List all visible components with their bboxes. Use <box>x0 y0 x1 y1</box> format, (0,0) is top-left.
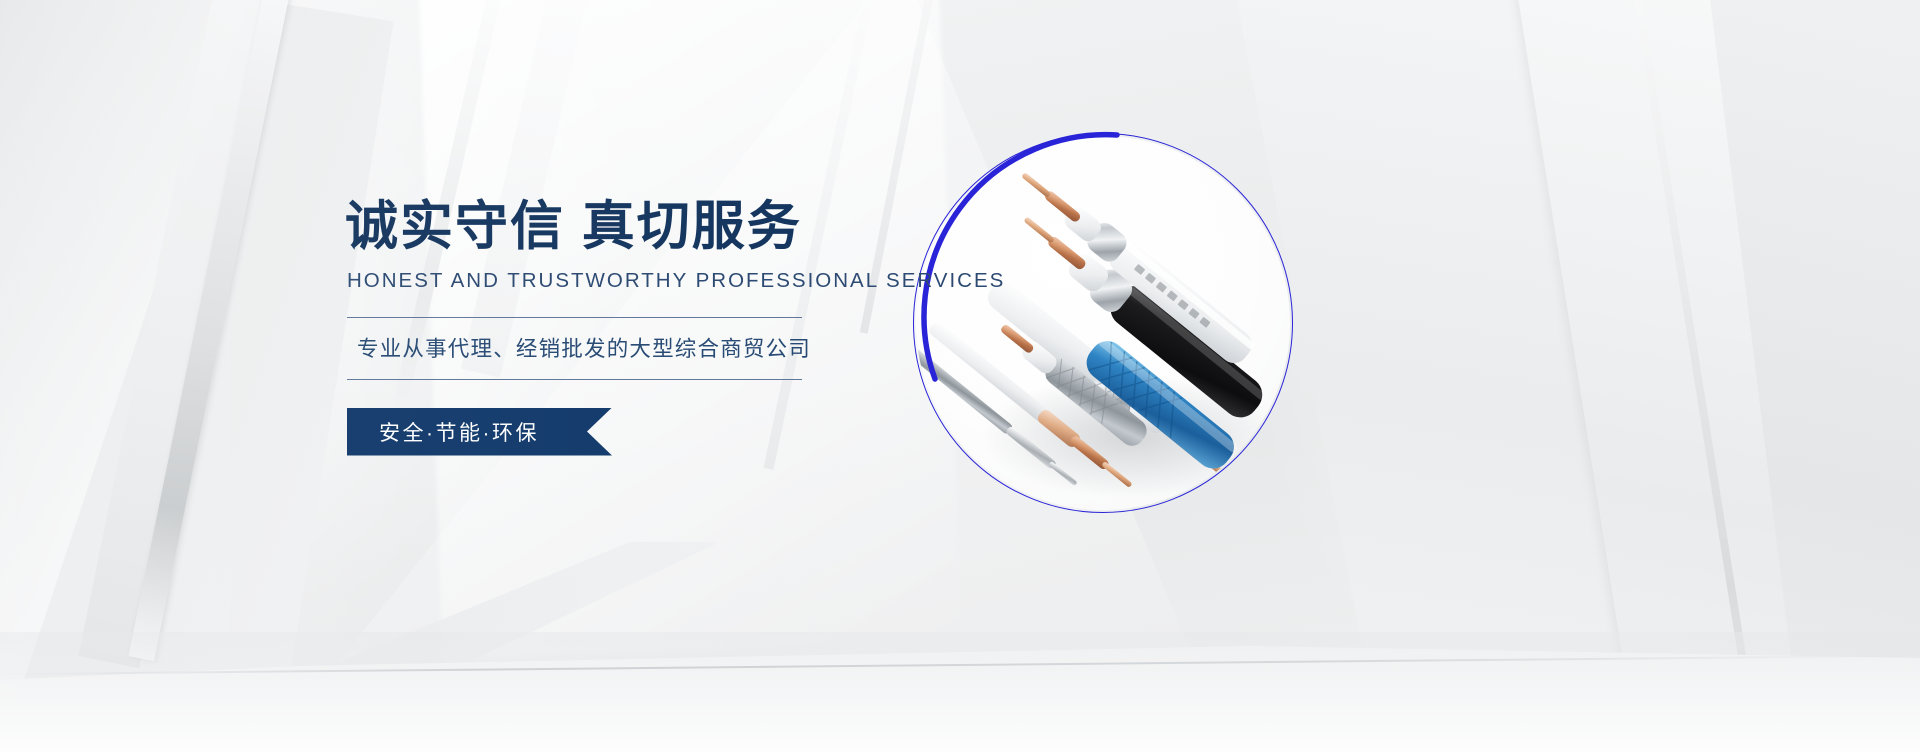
divider-bottom <box>347 379 802 380</box>
status-badge: 安全·节能·环保 <box>347 408 612 456</box>
blue-arc-accent-icon <box>895 117 1295 517</box>
background-floor-shade <box>0 632 1920 752</box>
subtitle-chinese: 专业从事代理、经销批发的大型综合商贸公司 <box>357 318 865 379</box>
status-badge-label: 安全·节能·环保 <box>379 417 539 447</box>
hero-text-block: 诚实守信 真切服务 HONEST AND TRUSTWORTHY PROFESS… <box>345 196 865 456</box>
page-title: 诚实守信 真切服务 <box>345 196 865 259</box>
product-circle <box>913 133 1293 513</box>
hero-banner: 诚实守信 真切服务 HONEST AND TRUSTWORTHY PROFESS… <box>0 0 1920 752</box>
divider-top <box>347 317 802 318</box>
subtitle-english: HONEST AND TRUSTWORTHY PROFESSIONAL SERV… <box>347 269 865 293</box>
